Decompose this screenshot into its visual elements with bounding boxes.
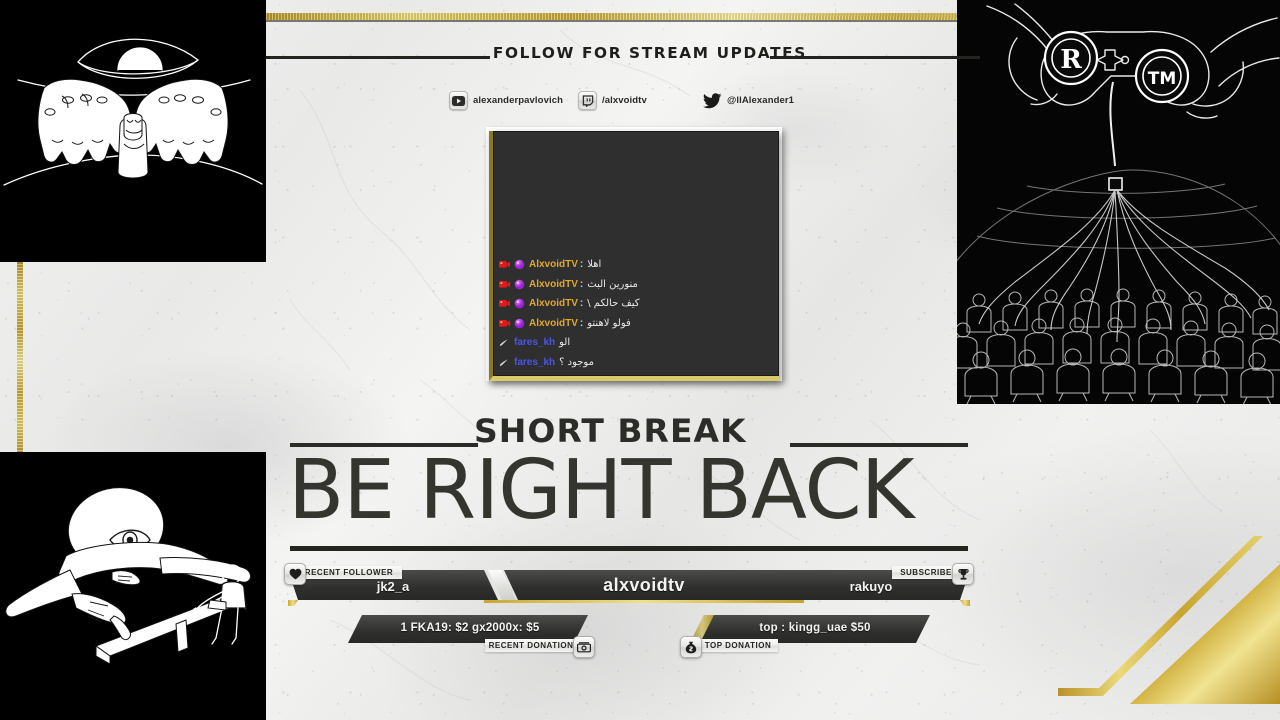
svg-text:TM: TM [1148, 69, 1177, 89]
subscriber-badge [514, 259, 525, 270]
chat-message-text: الو [559, 337, 570, 348]
svg-text:R: R [1060, 45, 1082, 75]
chat-message-text: فولو لاهنتو [587, 318, 631, 329]
subscribe-label: SUBSCRIBE [900, 568, 952, 577]
twitch-icon [578, 91, 597, 110]
stream-overlay-root: R TM [0, 0, 1280, 720]
page-title: FOLLOW FOR STREAM UPDATES [493, 44, 807, 62]
channel-name-wrap: alxvoidtv [484, 566, 804, 604]
brb-rule-bottom [290, 546, 968, 551]
social-twitch[interactable]: /alxvoidtv [578, 91, 647, 110]
chat-message: fares_khموجود ؟ [499, 353, 773, 373]
subscriber-badge [514, 318, 525, 329]
social-twitch-handle: /alxvoidtv [602, 95, 647, 106]
chat-username[interactable]: AlxvoidTV [529, 298, 578, 309]
recent-donation-label-tag: RECENT DONATION [485, 639, 577, 652]
money-icon [573, 636, 595, 658]
broadcaster-badge [499, 279, 510, 290]
top-donation-label-tag: TOP DONATION [698, 639, 778, 652]
chat-colon: : [580, 298, 583, 309]
recent-donation-label: RECENT DONATION [489, 641, 574, 650]
artwork-top-left [0, 0, 266, 262]
social-youtube[interactable]: alexanderpavlovich [449, 91, 563, 110]
brb-title: BE RIGHT BACK [288, 452, 914, 530]
chat-username[interactable]: fares_kh [514, 337, 555, 348]
chat-message-text: اهلا [587, 259, 601, 270]
chat-colon: : [580, 259, 583, 270]
chat-message-text: موجود ؟ [559, 357, 594, 368]
artwork-top-right: R TM [957, 0, 1280, 404]
recent-follower-value: jk2_a [377, 579, 410, 594]
header-rule-left [266, 56, 490, 59]
chat-message: fares_khالو [499, 333, 773, 353]
artwork-bottom-left [0, 452, 266, 720]
chat-box[interactable]: AlxvoidTV:اهلاAlxvoidTV:منورين البثAlxvo… [489, 131, 779, 381]
gold-accent-left-vertical [17, 262, 23, 460]
recent-donation-value: 1 FKA19: $2 gx2000x: $5 [401, 622, 540, 634]
chat-message: AlxvoidTV:فولو لاهنتو [499, 314, 773, 334]
subscriber-badge [514, 298, 525, 309]
chat-message: AlxvoidTV:كيف حالكم \ [499, 294, 773, 314]
social-twitter[interactable]: @llAlexander1 [703, 91, 794, 110]
recent-follower-label: RECENT FOLLOWER [305, 568, 393, 577]
chat-username[interactable]: fares_kh [514, 357, 555, 368]
subscribe-value: rakuyo [850, 579, 893, 594]
prime-badge [499, 357, 510, 368]
chat-message-text: منورين البث [587, 279, 638, 290]
subscribe-label-tag: SUBSCRIBE [892, 566, 960, 579]
subscriber-badge [514, 279, 525, 290]
recent-follower-label-tag: RECENT FOLLOWER [296, 566, 402, 579]
chat-username[interactable]: AlxvoidTV [529, 318, 578, 329]
twitter-icon [703, 91, 722, 110]
chat-username[interactable]: AlxvoidTV [529, 279, 578, 290]
top-donation-value: top : kingg_uae $50 [759, 622, 870, 634]
broadcaster-badge [499, 259, 510, 270]
money-bag-icon [680, 636, 702, 658]
chat-message-text: كيف حالكم \ [587, 298, 639, 309]
social-twitter-handle: @llAlexander1 [727, 95, 794, 106]
chat-message: AlxvoidTV:منورين البث [499, 275, 773, 295]
trophy-icon [952, 563, 974, 585]
prime-badge [499, 337, 510, 348]
channel-name: alxvoidtv [603, 575, 685, 596]
chat-colon: : [580, 318, 583, 329]
social-youtube-handle: alexanderpavlovich [473, 95, 563, 106]
youtube-icon [449, 91, 468, 110]
chat-username[interactable]: AlxvoidTV [529, 259, 578, 270]
chat-message-list: AlxvoidTV:اهلاAlxvoidTV:منورين البثAlxvo… [493, 255, 779, 376]
top-donation-label: TOP DONATION [705, 641, 771, 650]
chat-message: AlxvoidTV:اهلا [499, 255, 773, 275]
gold-corner-ornament [1058, 536, 1280, 720]
broadcaster-badge [499, 318, 510, 329]
chat-colon: : [580, 279, 583, 290]
broadcaster-badge [499, 298, 510, 309]
heart-icon [284, 563, 306, 585]
